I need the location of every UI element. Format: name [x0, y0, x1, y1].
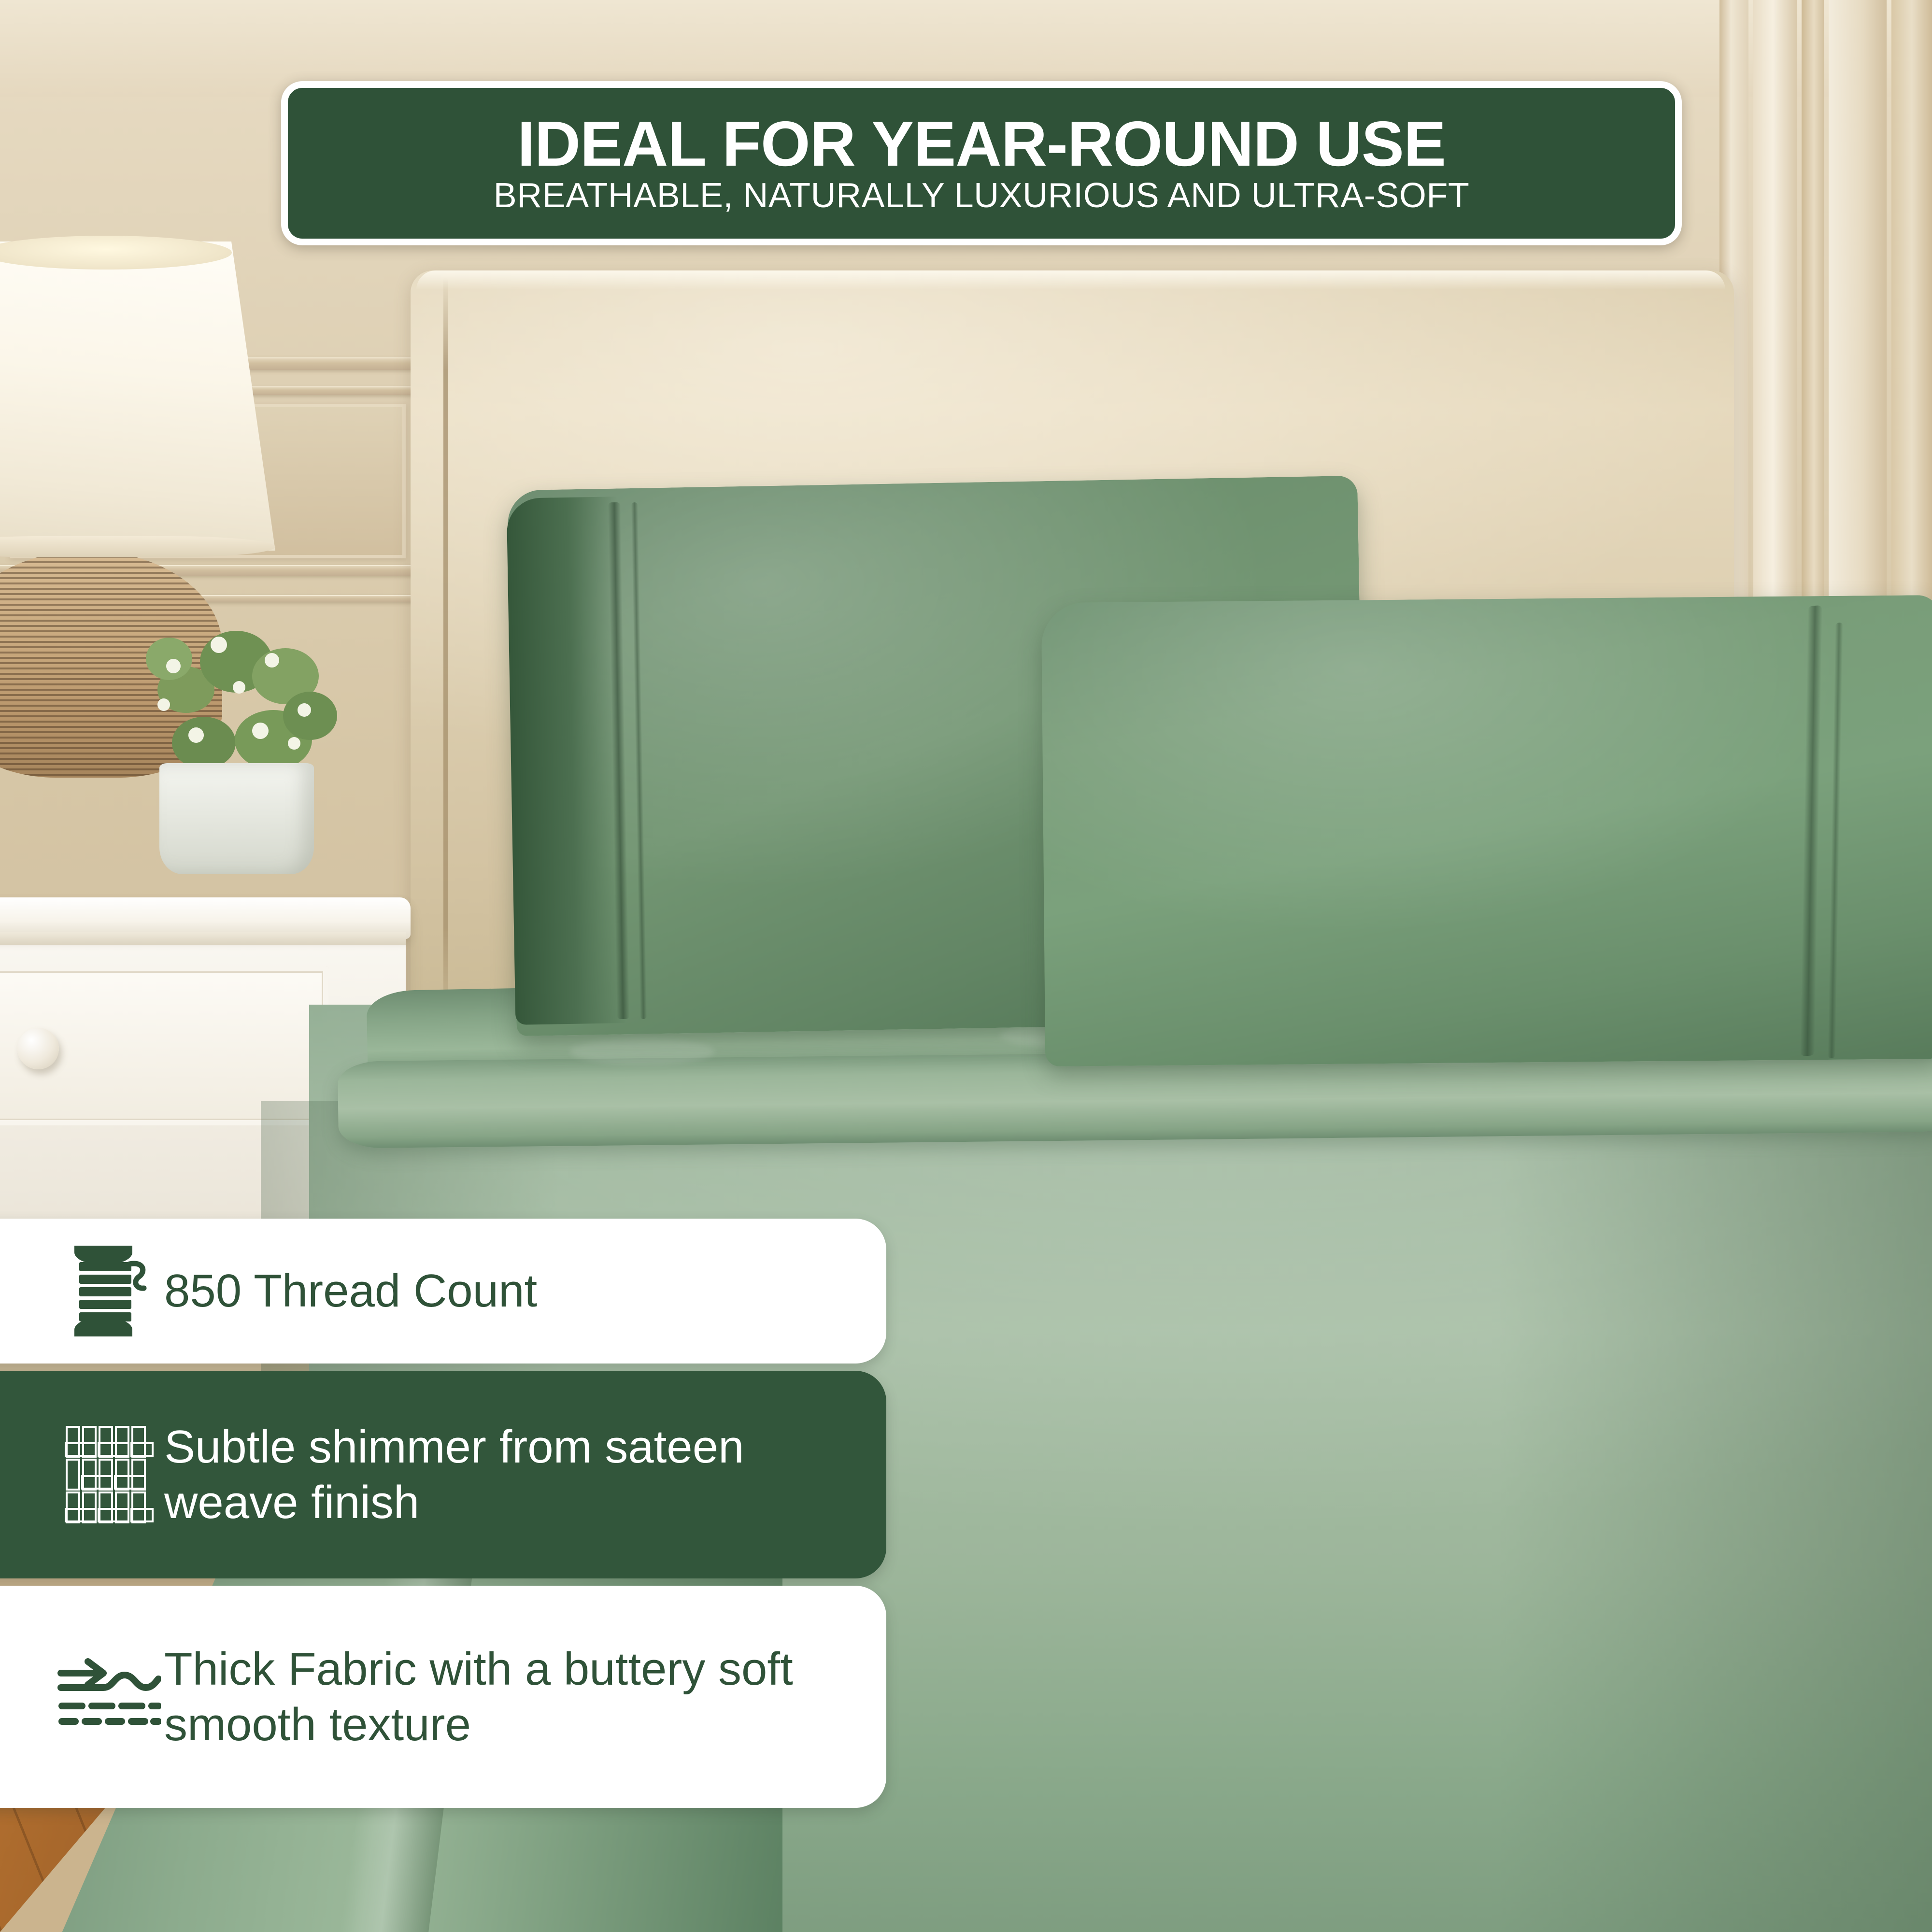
feature-badge-thread-count: 850 Thread Count	[0, 1219, 886, 1364]
basket-weave-icon	[53, 1424, 164, 1525]
headboard-highlight	[416, 270, 1725, 290]
feature-badge-thick-fabric: Thick Fabric with a buttery soft smooth …	[0, 1586, 886, 1808]
feature-label: 850 Thread Count	[164, 1263, 576, 1319]
product-feature-image: IDEAL FOR YEAR-ROUND USE BREATHABLE, NAT…	[0, 0, 1932, 1932]
feature-label: Subtle shimmer from sateen weave finish	[164, 1419, 886, 1530]
headboard-seam	[443, 278, 448, 1041]
lamp-shade-lip	[0, 536, 275, 557]
feature-label: Thick Fabric with a buttery soft smooth …	[164, 1641, 886, 1752]
plant-pot	[159, 763, 314, 874]
pillow-back-shadow	[507, 497, 627, 1025]
smooth-texture-arrow-icon	[53, 1656, 164, 1738]
thread-spool-icon	[53, 1243, 164, 1339]
lamp-shade	[0, 241, 275, 551]
banner-subtitle: BREATHABLE, NATURALLY LUXURIOUS AND ULTR…	[494, 178, 1470, 214]
nightstand-top-lip	[0, 932, 406, 945]
banner-title: IDEAL FOR YEAR-ROUND USE	[517, 112, 1446, 176]
sheet-shadow-right	[1497, 1005, 1932, 1932]
pillow-front	[1041, 595, 1932, 1066]
drawer-knob	[17, 1028, 59, 1069]
feature-badge-sateen-weave: Subtle shimmer from sateen weave finish	[0, 1371, 886, 1578]
header-banner: IDEAL FOR YEAR-ROUND USE BREATHABLE, NAT…	[281, 81, 1682, 245]
